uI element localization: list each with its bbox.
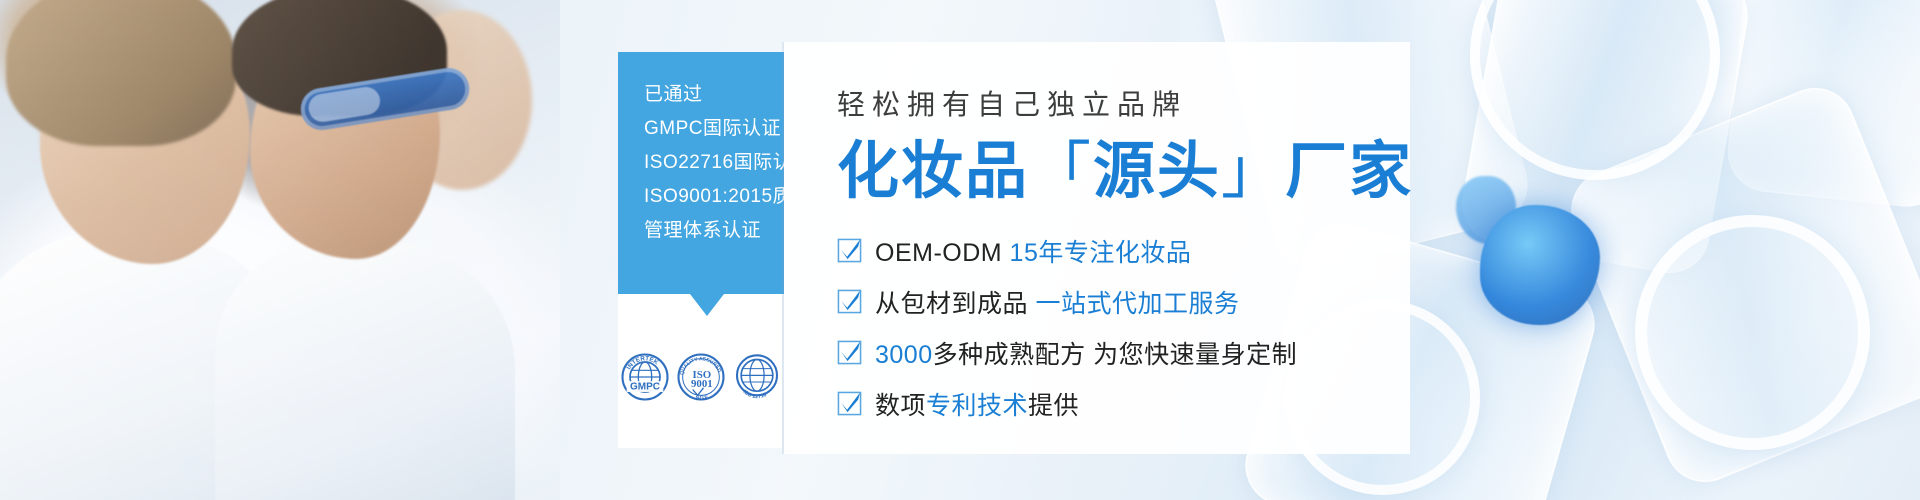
title-bracket-open: 「 [1029, 137, 1093, 206]
cert-line-4: ISO9001:2015质量 [644, 180, 784, 214]
hero-banner: 已通过 GMPC国际认证 ISO22716国际认证 ISO9001:2015质量… [0, 0, 1920, 500]
bullet-1-highlight: 15年专注化妆品 [1010, 239, 1192, 267]
title-part-1: 化妆品 [837, 137, 1029, 206]
title-bracket-close: 」 [1221, 137, 1285, 206]
certification-lines: 已通过 GMPC国际认证 ISO22716国际认证 ISO9001:2015质量… [618, 52, 784, 248]
subheading: 轻松拥有自己独立品牌 [837, 88, 1410, 122]
checkbox-checked-icon [837, 289, 862, 314]
list-item-label: OEM-ODM 15年专注化妆品 [875, 233, 1191, 269]
title-part-3: 厂家 [1285, 137, 1413, 206]
bullet-3-plain2: 多种成熟配方 为您快速量身定制 [933, 341, 1297, 369]
list-item: 数项专利技术提供 [837, 386, 1410, 422]
panel-divider [782, 42, 784, 454]
checkbox-checked-icon [837, 391, 862, 416]
cert-line-3: ISO22716国际认证 [644, 146, 784, 180]
cert-line-1: 已通过 [644, 78, 784, 112]
main-content-panel: 轻松拥有自己独立品牌 化妆品「源头」厂家 OEM-ODM 15年专注化妆品 [782, 42, 1410, 454]
list-item: 3000多种成熟配方 为您快速量身定制 [837, 335, 1410, 371]
bullet-1-plain1: OEM-ODM [875, 239, 1010, 267]
feature-bullet-list: OEM-ODM 15年专注化妆品 从包材到成品 一站式代加工服务 [837, 233, 1410, 422]
iso22716-badge: ISO 22716 [732, 352, 782, 402]
iso9001-sgs-badge: QUALITY ASSURED ISO 9001 SGS [676, 352, 726, 402]
list-item-label: 数项专利技术提供 [875, 386, 1079, 422]
certification-badge-row: INTERTEK GMPC QUALITY ASSURED ISO 9001 S… [618, 322, 784, 432]
gmpc-intertek-badge: INTERTEK GMPC [620, 352, 670, 402]
panel-pointer-arrow-icon [690, 294, 724, 316]
title-part-2: 源头 [1093, 137, 1221, 206]
list-item: OEM-ODM 15年专注化妆品 [837, 233, 1410, 269]
list-item-label: 从包材到成品 一站式代加工服务 [875, 284, 1239, 320]
svg-text:9001: 9001 [691, 378, 713, 390]
bullet-4-highlight: 专利技术 [926, 392, 1028, 420]
checkbox-checked-icon [837, 238, 862, 263]
bullet-4-plain1: 数项 [875, 392, 926, 420]
certification-text-panel: 已通过 GMPC国际认证 ISO22716国际认证 ISO9001:2015质量… [618, 52, 784, 294]
checkbox-checked-icon [837, 340, 862, 365]
cert-line-2: GMPC国际认证 [644, 112, 784, 146]
bullet-2-plain1: 从包材到成品 [875, 290, 1035, 318]
svg-text:GMPC: GMPC [630, 382, 660, 393]
bullet-3-highlight: 3000 [875, 341, 933, 369]
svg-text:SGS: SGS [696, 396, 708, 402]
cert-line-5: 管理体系认证 [644, 214, 784, 248]
bullet-2-highlight: 一站式代加工服务 [1035, 290, 1239, 318]
bullet-4-plain2: 提供 [1028, 392, 1079, 420]
page-title: 化妆品「源头」厂家 [837, 136, 1410, 207]
list-item: 从包材到成品 一站式代加工服务 [837, 284, 1410, 320]
list-item-label: 3000多种成熟配方 为您快速量身定制 [875, 335, 1297, 371]
